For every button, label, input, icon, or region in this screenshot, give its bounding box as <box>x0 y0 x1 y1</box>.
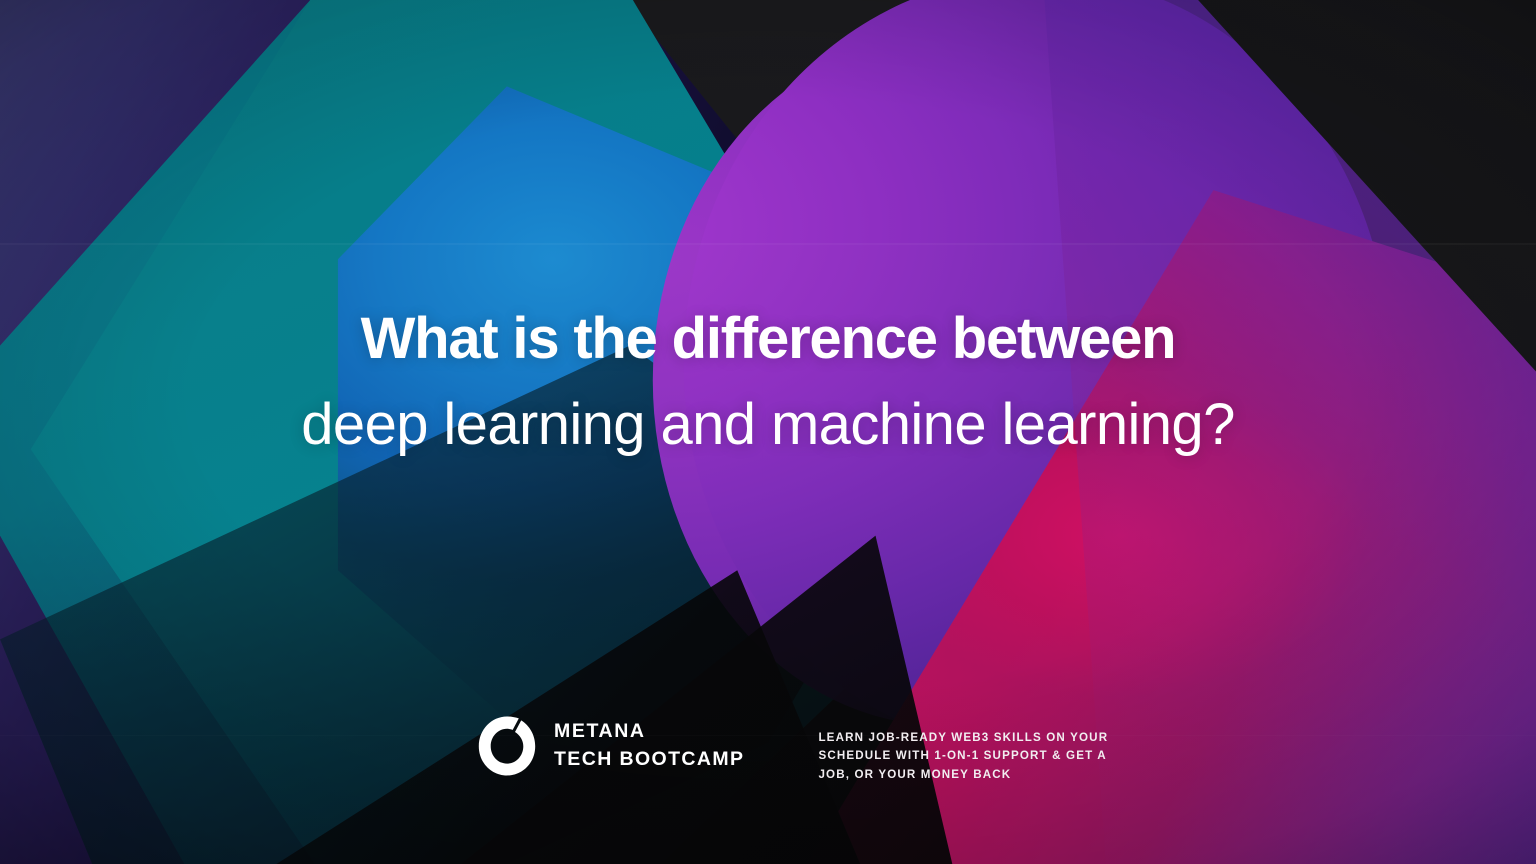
tagline-line-2: SCHEDULE WITH 1-ON-1 SUPPORT & GET A <box>818 747 1108 765</box>
brand-name-line-2: TECH BOOTCAMP <box>554 746 744 774</box>
metana-ring-logo-icon <box>478 716 536 776</box>
tagline-line-1: LEARN JOB-READY WEB3 SKILLS ON YOUR <box>818 729 1108 747</box>
brand-tagline: LEARN JOB-READY WEB3 SKILLS ON YOUR SCHE… <box>818 729 1108 784</box>
tagline-line-3: JOB, OR YOUR MONEY BACK <box>818 766 1108 784</box>
brand-wordmark: METANA TECH BOOTCAMP <box>554 718 744 773</box>
headline-line-2: deep learning and machine learning? <box>0 396 1536 454</box>
page-title: What is the difference between deep lear… <box>0 310 1536 454</box>
brand-logo-lockup: METANA TECH BOOTCAMP <box>478 716 744 776</box>
headline-line-1: What is the difference between <box>0 310 1536 368</box>
footer-lockup: METANA TECH BOOTCAMP LEARN JOB-READY WEB… <box>478 716 1108 784</box>
slide-content: What is the difference between deep lear… <box>0 0 1536 864</box>
brand-name-line-1: METANA <box>554 718 744 746</box>
slide-canvas: What is the difference between deep lear… <box>0 0 1536 864</box>
